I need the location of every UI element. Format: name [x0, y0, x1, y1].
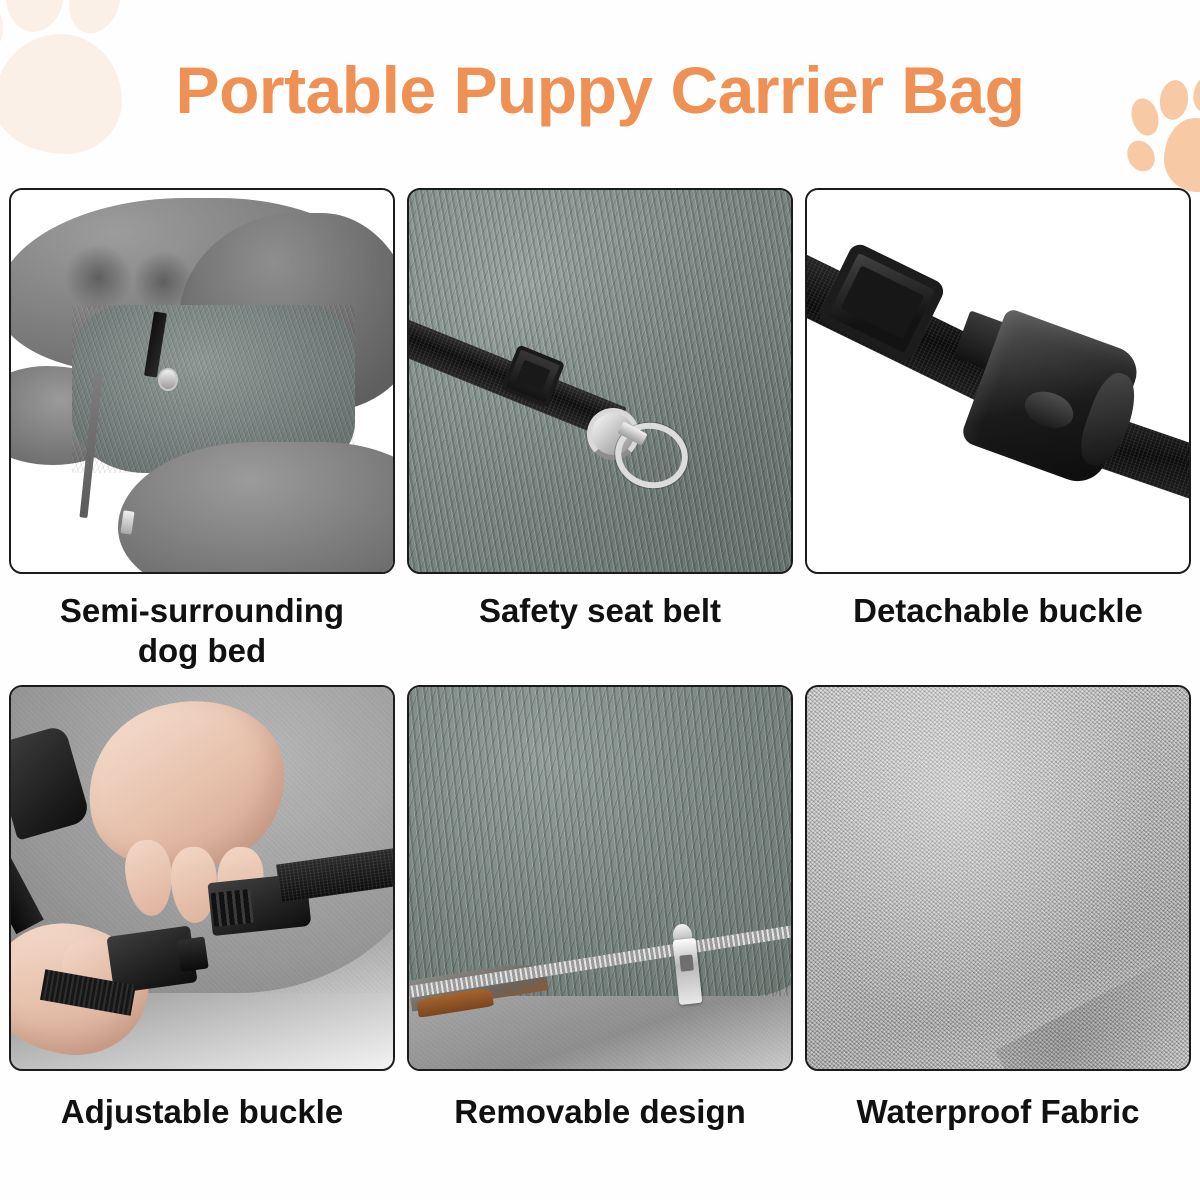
feature-row-2: Adjustable buckle Removable desig: [9, 685, 1191, 1132]
caption-line-1: Semi-surrounding: [60, 592, 344, 629]
feature-cell-removable-design[interactable]: Removable design: [407, 685, 793, 1132]
caption-adjustable-buckle: Adjustable buckle: [9, 1092, 395, 1132]
photo-adjustable-buckle[interactable]: [9, 685, 395, 1071]
feature-row-1: Semi-surrounding dog bed Safety seat bel: [9, 188, 1191, 671]
caption-waterproof-fabric: Waterproof Fabric: [805, 1092, 1191, 1132]
feature-cell-safety-seat-belt[interactable]: Safety seat belt: [407, 188, 793, 671]
photo-removable-design[interactable]: [407, 685, 793, 1071]
caption-detachable-buckle: Detachable buckle: [805, 591, 1191, 631]
caption-line-2: dog bed: [138, 632, 266, 669]
caption-semi-surrounding-dog-bed: Semi-surrounding dog bed: [9, 591, 395, 671]
photo-semi-surrounding-dog-bed[interactable]: [9, 188, 395, 574]
infographic-page: Portable Puppy Carrier Bag: [0, 0, 1200, 1200]
caption-removable-design: Removable design: [407, 1092, 793, 1132]
feature-cell-waterproof-fabric[interactable]: Waterproof Fabric: [805, 685, 1191, 1132]
photo-detachable-buckle[interactable]: [805, 188, 1191, 574]
feature-cell-adjustable-buckle[interactable]: Adjustable buckle: [9, 685, 395, 1132]
page-title: Portable Puppy Carrier Bag: [0, 52, 1200, 128]
caption-safety-seat-belt: Safety seat belt: [407, 591, 793, 631]
feature-cell-semi-surrounding-dog-bed[interactable]: Semi-surrounding dog bed: [9, 188, 395, 671]
feature-cell-detachable-buckle[interactable]: Detachable buckle: [805, 188, 1191, 671]
photo-waterproof-fabric[interactable]: [805, 685, 1191, 1071]
photo-safety-seat-belt[interactable]: [407, 188, 793, 574]
feature-grid: Semi-surrounding dog bed Safety seat bel: [0, 188, 1200, 1132]
